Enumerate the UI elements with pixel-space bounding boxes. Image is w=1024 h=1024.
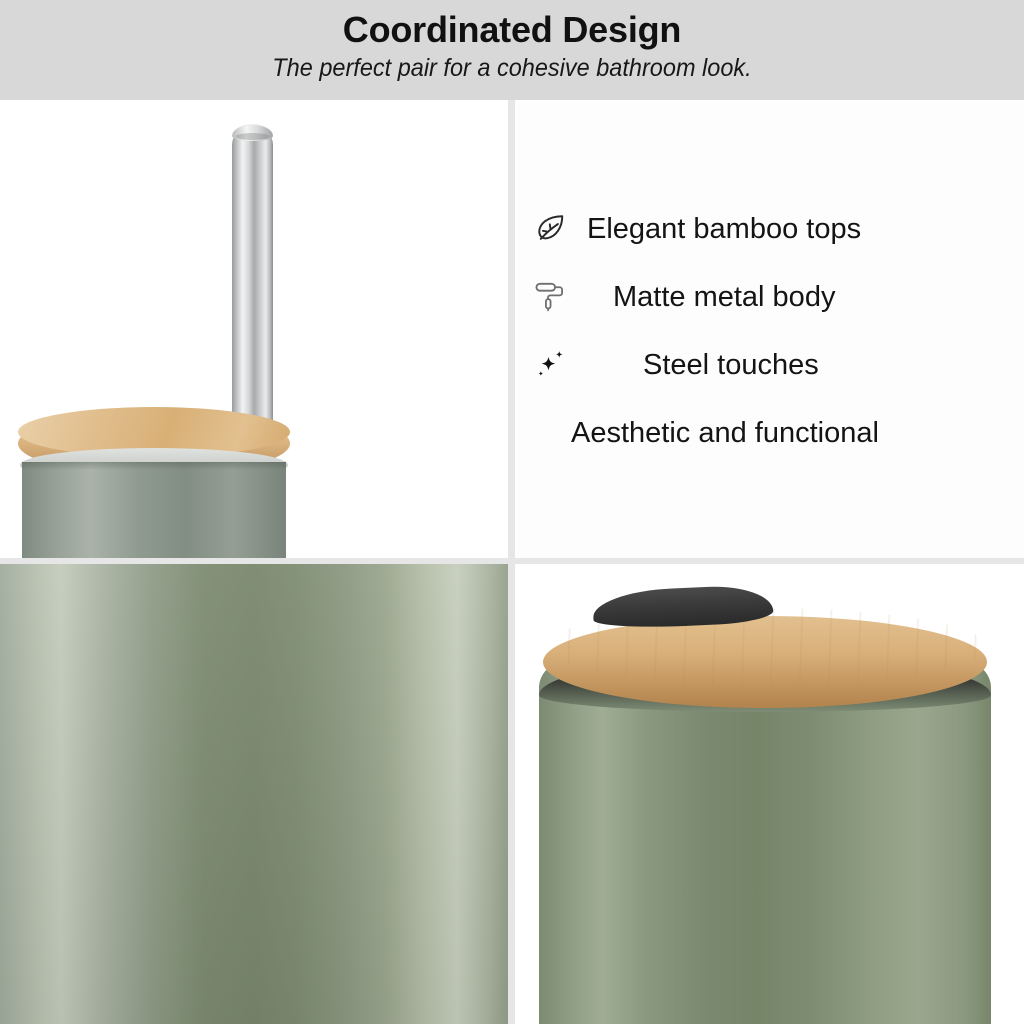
feature-label: Matte metal body	[613, 280, 835, 314]
panel-matte-surface-macro	[0, 564, 508, 1024]
panel-toilet-brush-holder	[0, 100, 508, 558]
brush-steel-handle	[232, 126, 273, 444]
header-band: Coordinated Design The perfect pair for …	[0, 0, 1024, 100]
panel-grid: Elegant bamboo tops Matte metal body	[0, 100, 1024, 1024]
feature-label: Elegant bamboo tops	[587, 212, 861, 246]
feature-item-steel-touches: Steel touches	[515, 331, 1024, 399]
feature-item-matte-metal-body: Matte metal body	[515, 263, 1024, 331]
bin-green-body	[539, 662, 991, 1024]
brush-handle-cap	[232, 124, 273, 141]
bin-product-photo	[515, 564, 1024, 1024]
leaf-icon	[515, 211, 587, 247]
sparkle-icon	[515, 346, 587, 384]
matte-surface-closeup	[0, 564, 508, 1024]
page-subtitle: The perfect pair for a cohesive bathroom…	[272, 52, 751, 84]
product-infographic: Coordinated Design The perfect pair for …	[0, 0, 1024, 1024]
brush-green-body	[22, 462, 286, 558]
panel-feature-list: Elegant bamboo tops Matte metal body	[515, 100, 1024, 558]
panel-bamboo-lid-bin	[515, 564, 1024, 1024]
feature-item-aesthetic-functional: Aesthetic and functional	[515, 399, 1024, 467]
brush-product-photo	[0, 100, 508, 558]
feature-item-bamboo-tops: Elegant bamboo tops	[515, 195, 1024, 263]
paint-roller-icon	[515, 279, 587, 315]
feature-list: Elegant bamboo tops Matte metal body	[515, 100, 1024, 558]
feature-label: Steel touches	[643, 348, 819, 382]
feature-label: Aesthetic and functional	[571, 416, 879, 450]
page-title: Coordinated Design	[343, 8, 681, 52]
